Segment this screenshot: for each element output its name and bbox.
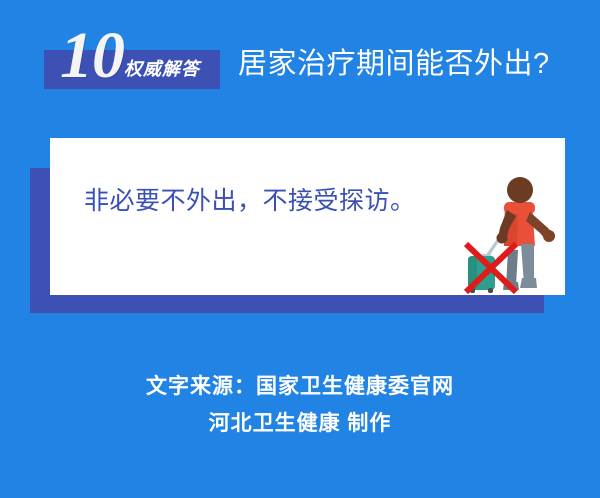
badge-number: 10 xyxy=(44,18,140,94)
page-title: 居家治疗期间能否外出? xyxy=(238,44,550,84)
header: 10 权威解答 居家治疗期间能否外出? xyxy=(0,0,600,118)
answer-card: 非必要不外出，不接受探访。 xyxy=(50,138,565,295)
footer-source-line: 文字来源：国家卫生健康委官网 xyxy=(0,368,600,405)
footer: 文字来源：国家卫生健康委官网 河北卫生健康 制作 xyxy=(0,368,600,442)
footer-producer-line: 河北卫生健康 制作 xyxy=(0,405,600,442)
person-with-suitcase-crossed-out-icon xyxy=(460,176,565,295)
answer-message: 非必要不外出，不接受探访。 xyxy=(84,184,484,218)
badge-label: 权威解答 xyxy=(124,57,216,81)
poster-root: 10 权威解答 居家治疗期间能否外出? 非必要不外出，不接受探访。 xyxy=(0,0,600,498)
